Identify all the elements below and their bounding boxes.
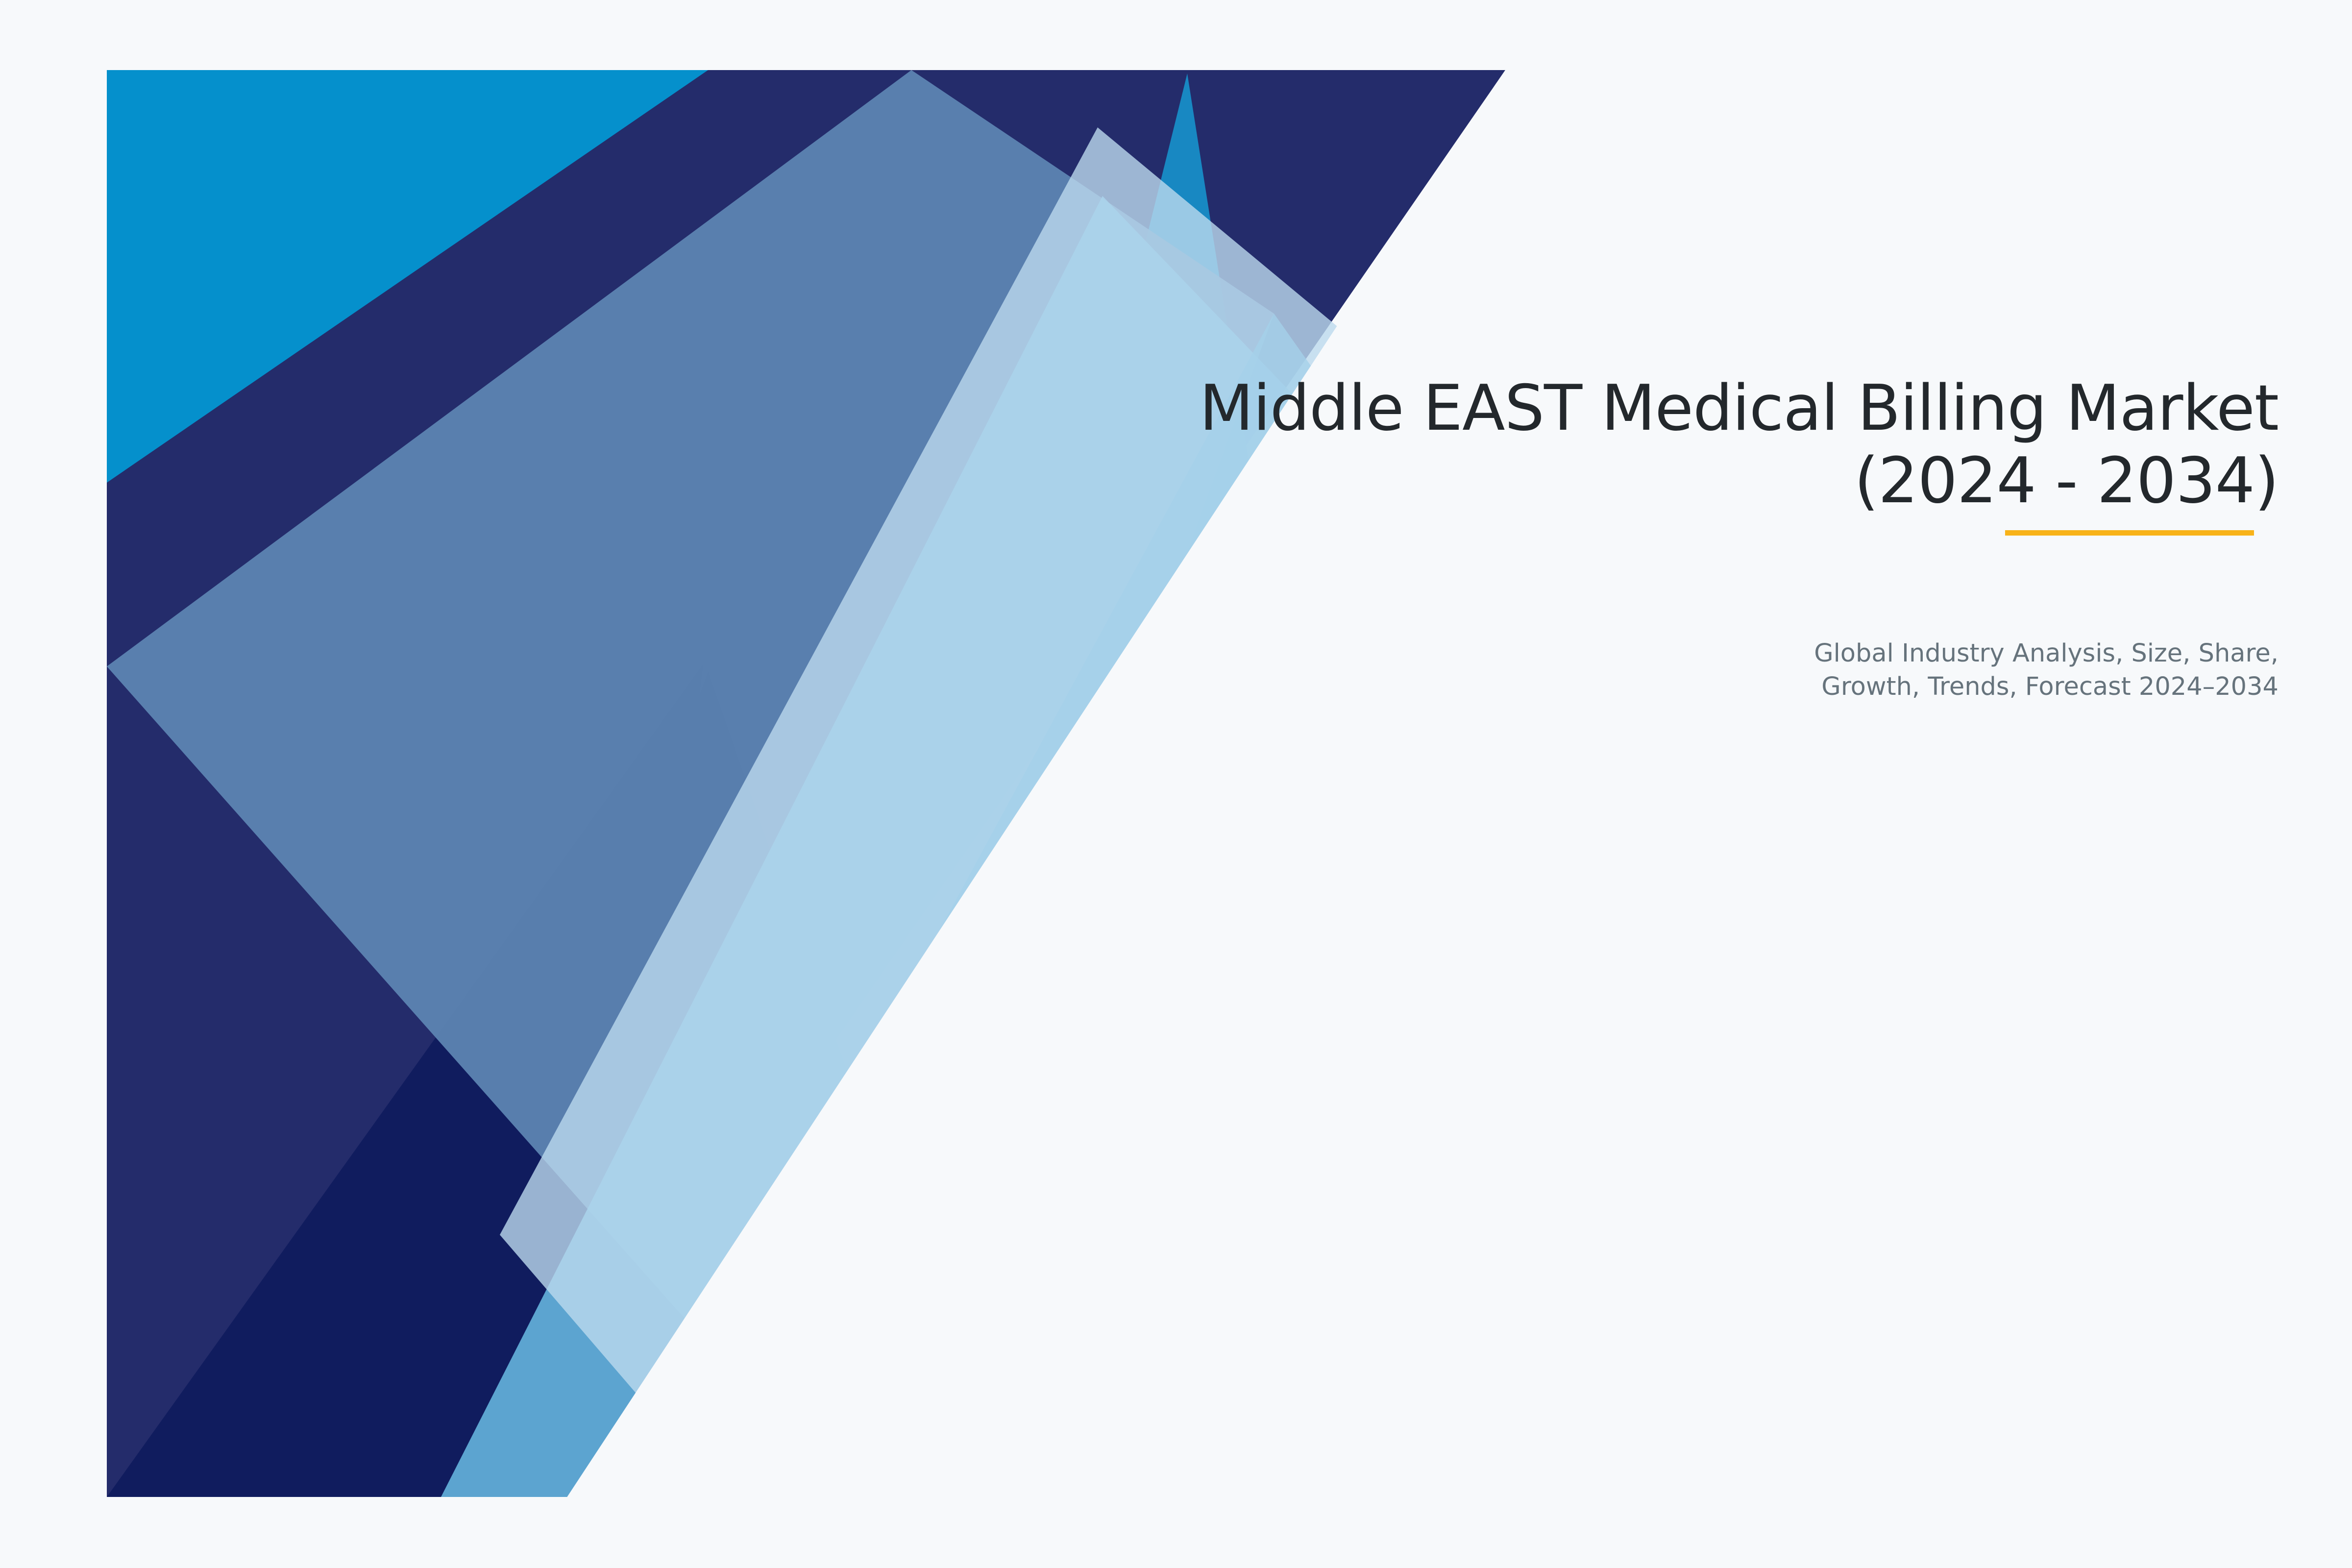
artwork-background [0, 0, 2352, 1568]
title-accent-underline [2005, 530, 2254, 536]
artwork-mask-right [520, 70, 2352, 1568]
artwork-mask-top [0, 0, 2352, 70]
shape-pale-blue-sheet [500, 127, 1357, 1497]
artwork-mask-left [0, 0, 107, 1568]
shape-slate-panel [107, 70, 1274, 1497]
report-cover: Middle EAST Medical Billing Market (2024… [0, 0, 2352, 1568]
shape-deep-navy-wedge [107, 664, 703, 1497]
artwork-mask-bottom [0, 1497, 2352, 1568]
shape-deep-navy-blade [416, 671, 995, 1497]
page-title: Middle EAST Medical Billing Market (2024… [872, 372, 2278, 518]
title-block: Middle EAST Medical Billing Market (2024… [872, 372, 2278, 518]
shape-cyan-spike [1066, 73, 1274, 622]
abstract-polygon-cover-graphic [0, 0, 2352, 1568]
page-subtitle: Global Industry Analysis, Size, Share, G… [1421, 637, 2278, 704]
shape-navy-main [107, 70, 1505, 1497]
shape-cyan-base [107, 70, 1505, 1497]
